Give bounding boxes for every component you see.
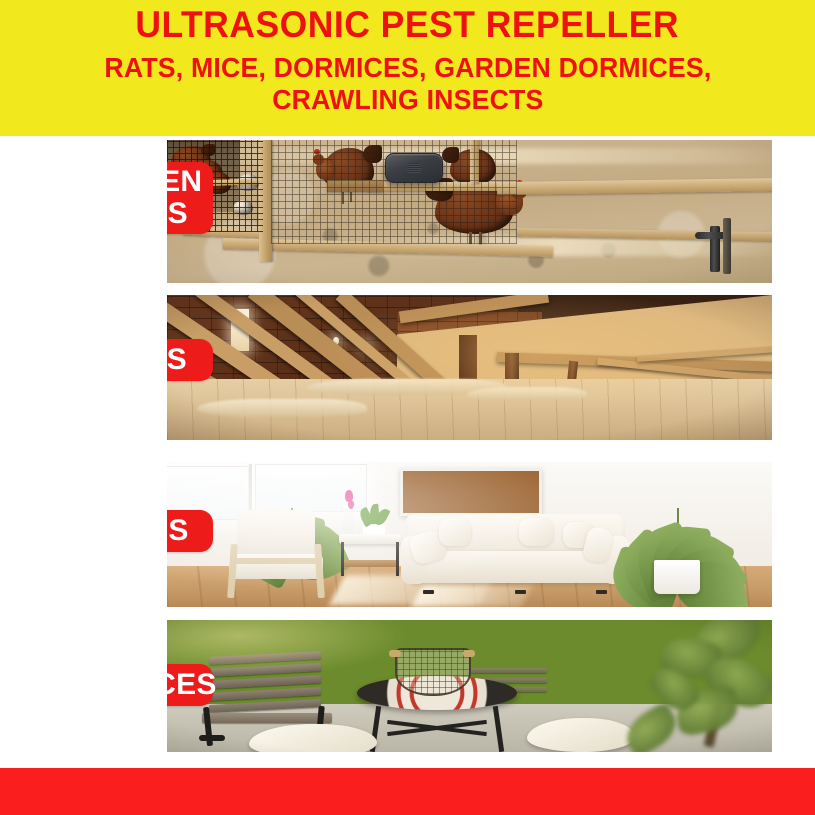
photo-sun-overlay [167,620,772,752]
terrace-scene [167,620,772,752]
photo-brightness-overlay [167,462,772,607]
product-infographic: ULTRASONIC PEST REPELLER RATS, MICE, DOR… [0,0,815,815]
page-title: ULTRASONIC PEST REPELLER [136,5,680,45]
badge-terraces: TERRACES [167,664,213,706]
subtitle-line-2: CRAWLING INSECTS [272,84,543,115]
header-banner: ULTRASONIC PEST REPELLER RATS, MICE, DOR… [0,0,815,136]
badge-chicken-coops: CHICKEN COOPS [167,162,213,234]
photo-terraces: TERRACES [167,620,772,752]
living-room-scene [167,462,772,607]
photo-homes: HOMES [167,462,772,607]
chicken-coop-scene [167,140,772,283]
footer-red-bar [0,768,815,815]
photo-vignette [167,140,772,283]
photo-warm-overlay [167,295,772,440]
badge-homes: HOMES [167,510,213,552]
photo-attics: ATTICS [167,295,772,440]
badge-attics: ATTICS [167,339,213,381]
subtitle-line-1: RATS, MICE, DORMICES, GARDEN DORMICES, [104,52,711,83]
photo-chicken-coops: CHICKEN COOPS [167,140,772,283]
attic-scene [167,295,772,440]
